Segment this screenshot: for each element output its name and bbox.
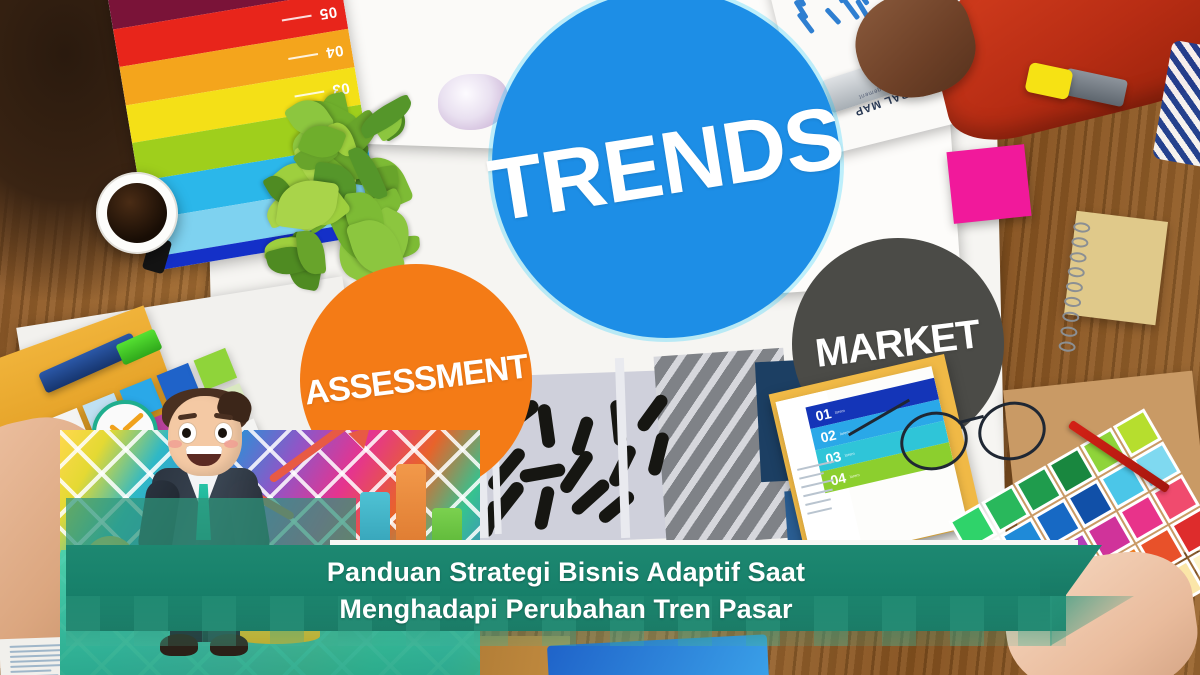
assessment-circle-label: ASSESSMENT — [302, 347, 529, 413]
numbered-row-caption: lorem — [849, 472, 860, 479]
eyeglasses-lens-right — [972, 395, 1052, 468]
businessman-blush-left — [168, 440, 182, 448]
screenshot-root: 06050403 all of vision management GLOBAL… — [0, 0, 1200, 675]
color-swatch — [1122, 497, 1163, 538]
numbered-row-number: 01 — [814, 405, 833, 424]
businessman-teeth — [186, 446, 222, 454]
banner-title-line1: Panduan Strategi Bisnis Adaptif Saat — [327, 556, 805, 589]
businessman-pupil-right — [218, 428, 227, 438]
banner-upper-tint — [66, 498, 356, 545]
trends-circle-label: TRENDS — [482, 86, 849, 242]
color-swatch — [1070, 483, 1111, 524]
banner-title: Panduan Strategi Bisnis Adaptif Saat Men… — [66, 549, 1066, 633]
numbered-row-number: 03 — [824, 448, 843, 467]
banner-title-line2: Menghadapi Perubahan Tren Pasar — [339, 593, 792, 626]
trends-circle: TRENDS — [492, 0, 840, 338]
color-swatch — [1174, 511, 1200, 552]
businessman-pupil-left — [182, 428, 191, 438]
numbered-row-caption: lorem — [834, 407, 845, 414]
businessman-blush-right — [224, 440, 238, 448]
numbered-row-number: 02 — [819, 427, 838, 446]
eyeglasses — [900, 398, 1060, 476]
document-text-line — [10, 669, 52, 672]
eyeglasses-lens-left — [894, 405, 974, 478]
numbered-row-caption: lorem — [844, 450, 855, 457]
color-swatch — [1037, 502, 1078, 543]
